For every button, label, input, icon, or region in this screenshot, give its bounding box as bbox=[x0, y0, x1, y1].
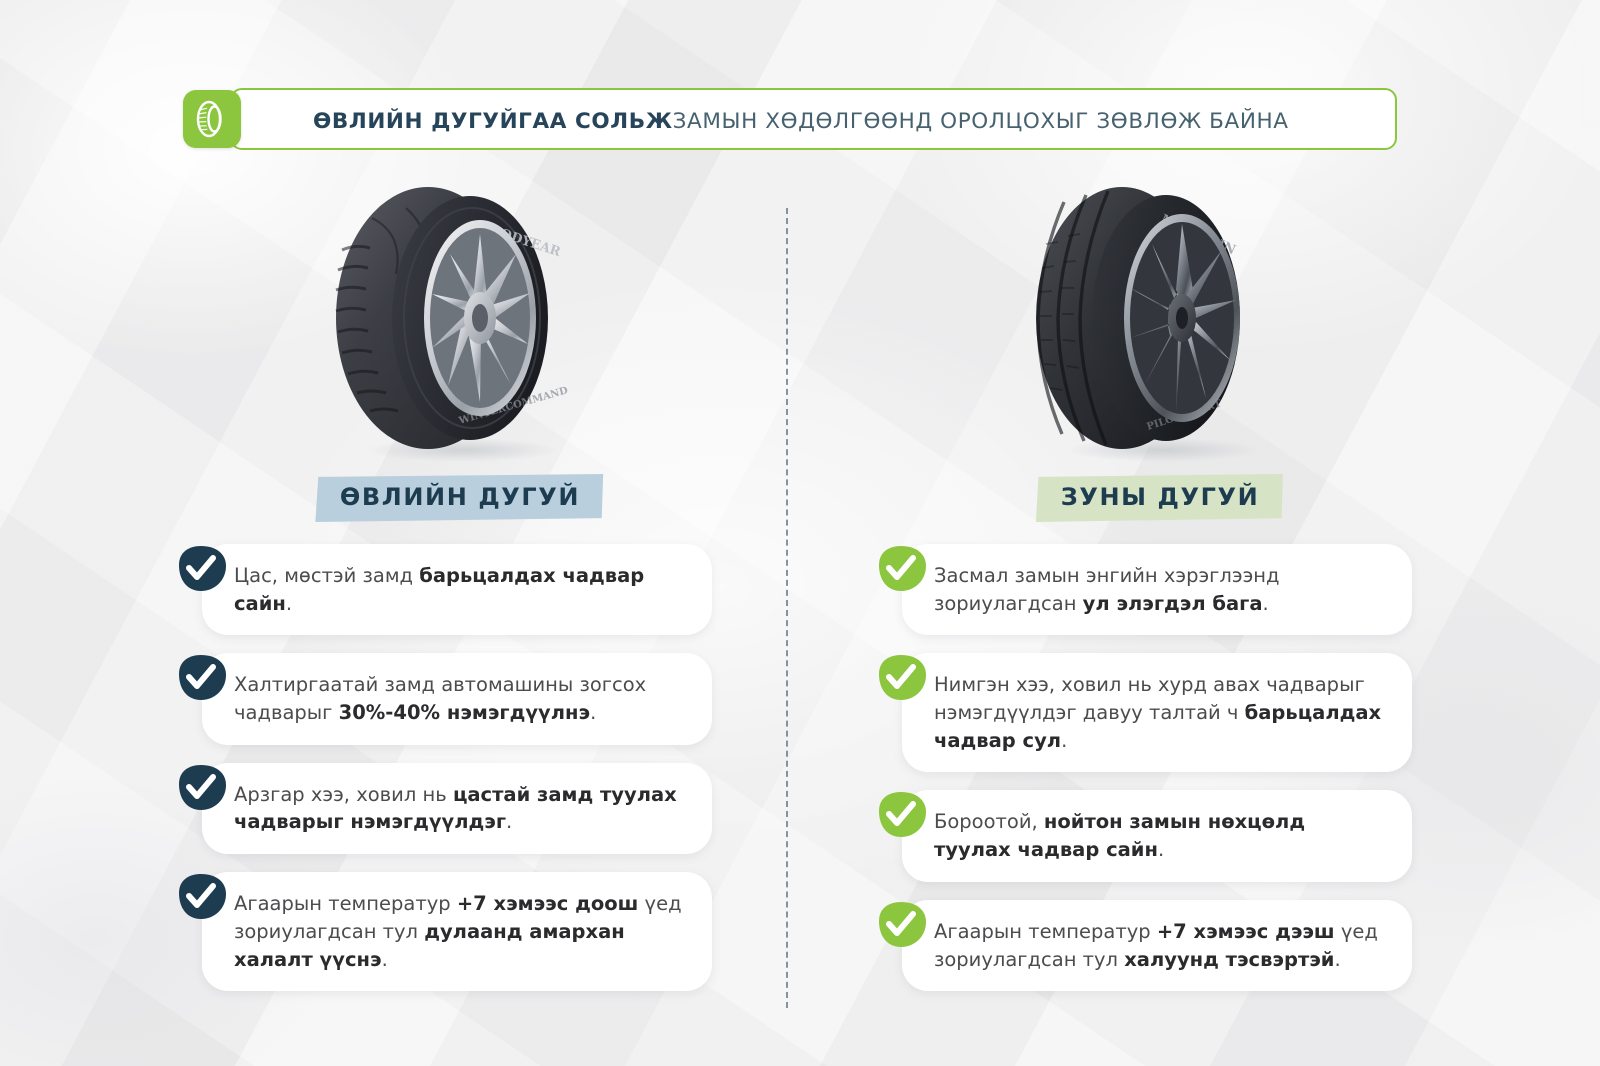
bullet-text: Бороотой, нойтон замын нөхцөлд туулах ча… bbox=[934, 808, 1386, 863]
check-icon bbox=[172, 544, 228, 594]
winter-bullet-list: Цас, мөстэй замд барьцалдах чадвар сайн.… bbox=[140, 544, 780, 991]
summer-label-text: ЗУНЫ ДУГУЙ bbox=[1061, 483, 1260, 511]
header-bar: ӨВЛИЙН ДУГУЙГАА СОЛЬЖ ЗАМЫН ХӨДӨЛГӨӨНД О… bbox=[230, 88, 1397, 150]
check-icon bbox=[872, 790, 928, 840]
column-summer: MICHELIN PILOT SPORT bbox=[840, 170, 1480, 1050]
header-title-bold: ӨВЛИЙН ДУГУЙГАА СОЛЬЖ bbox=[313, 109, 673, 134]
bullet-text: Засмал замын энгийн хэрэглээнд зориулагд… bbox=[934, 562, 1386, 617]
list-item: Нимгэн хээ, ховил нь хурд авах чадварыг … bbox=[840, 653, 1480, 772]
bullet-text: Халтиргаатай замд автомашины зогсох чадв… bbox=[234, 671, 686, 726]
check-icon bbox=[872, 653, 928, 703]
list-item: Засмал замын энгийн хэрэглээнд зориулагд… bbox=[840, 544, 1480, 635]
summer-tire-photo: MICHELIN PILOT SPORT bbox=[840, 170, 1480, 470]
check-icon bbox=[872, 544, 928, 594]
list-item: Арзгар хээ, ховил нь цастай замд туулах … bbox=[140, 763, 780, 854]
bullet-bubble: Агаарын температур +7 хэмээс дээш үед зо… bbox=[902, 900, 1412, 991]
header-banner: ӨВЛИЙН ДУГУЙГАА СОЛЬЖ ЗАМЫН ХӨДӨЛГӨӨНД О… bbox=[183, 88, 1397, 150]
bullet-text: Цас, мөстэй замд барьцалдах чадвар сайн. bbox=[234, 562, 686, 617]
bullet-bubble: Агаарын температур +7 хэмээс доош үед зо… bbox=[202, 872, 712, 991]
bullet-bubble: Засмал замын энгийн хэрэглээнд зориулагд… bbox=[902, 544, 1412, 635]
bullet-bubble: Бороотой, нойтон замын нөхцөлд туулах ча… bbox=[902, 790, 1412, 881]
bullet-text: Агаарын температур +7 хэмээс дээш үед зо… bbox=[934, 918, 1386, 973]
bullet-bubble: Арзгар хээ, ховил нь цастай замд туулах … bbox=[202, 763, 712, 854]
list-item: Агаарын температур +7 хэмээс доош үед зо… bbox=[140, 872, 780, 991]
check-icon bbox=[172, 653, 228, 703]
check-icon bbox=[172, 763, 228, 813]
bullet-bubble: Цас, мөстэй замд барьцалдах чадвар сайн. bbox=[202, 544, 712, 635]
list-item: Халтиргаатай замд автомашины зогсох чадв… bbox=[140, 653, 780, 744]
bullet-text: Арзгар хээ, ховил нь цастай замд туулах … bbox=[234, 781, 686, 836]
column-winter: GOODYEAR WINTERCOMMAND bbox=[140, 170, 780, 1050]
summer-bullet-list: Засмал замын энгийн хэрэглээнд зориулагд… bbox=[840, 544, 1480, 991]
list-item: Агаарын температур +7 хэмээс дээш үед зо… bbox=[840, 900, 1480, 991]
tire-icon bbox=[183, 90, 241, 148]
bullet-text: Агаарын температур +7 хэмээс доош үед зо… bbox=[234, 890, 686, 973]
bullet-text: Нимгэн хээ, ховил нь хурд авах чадварыг … bbox=[934, 671, 1386, 754]
check-icon bbox=[872, 900, 928, 950]
infographic-page: ӨВЛИЙН ДУГУЙГАА СОЛЬЖ ЗАМЫН ХӨДӨЛГӨӨНД О… bbox=[0, 0, 1600, 1066]
header-title: ӨВЛИЙН ДУГУЙГАА СОЛЬЖ ЗАМЫН ХӨДӨЛГӨӨНД О… bbox=[313, 90, 1377, 152]
winter-section-label: ӨВЛИЙН ДУГУЙ bbox=[140, 470, 780, 526]
winter-label-text: ӨВЛИЙН ДУГУЙ bbox=[340, 483, 580, 511]
bullet-bubble: Халтиргаатай замд автомашины зогсох чадв… bbox=[202, 653, 712, 744]
check-icon bbox=[172, 872, 228, 922]
winter-tire-photo: GOODYEAR WINTERCOMMAND bbox=[140, 170, 780, 470]
header-title-regular: ЗАМЫН ХӨДӨЛГӨӨНД ОРОЛЦОХЫГ ЗӨВЛӨЖ БАЙНА bbox=[673, 109, 1289, 134]
column-divider bbox=[786, 208, 788, 1008]
list-item: Цас, мөстэй замд барьцалдах чадвар сайн. bbox=[140, 544, 780, 635]
bullet-bubble: Нимгэн хээ, ховил нь хурд авах чадварыг … bbox=[902, 653, 1412, 772]
list-item: Бороотой, нойтон замын нөхцөлд туулах ча… bbox=[840, 790, 1480, 881]
summer-section-label: ЗУНЫ ДУГУЙ bbox=[840, 470, 1480, 526]
